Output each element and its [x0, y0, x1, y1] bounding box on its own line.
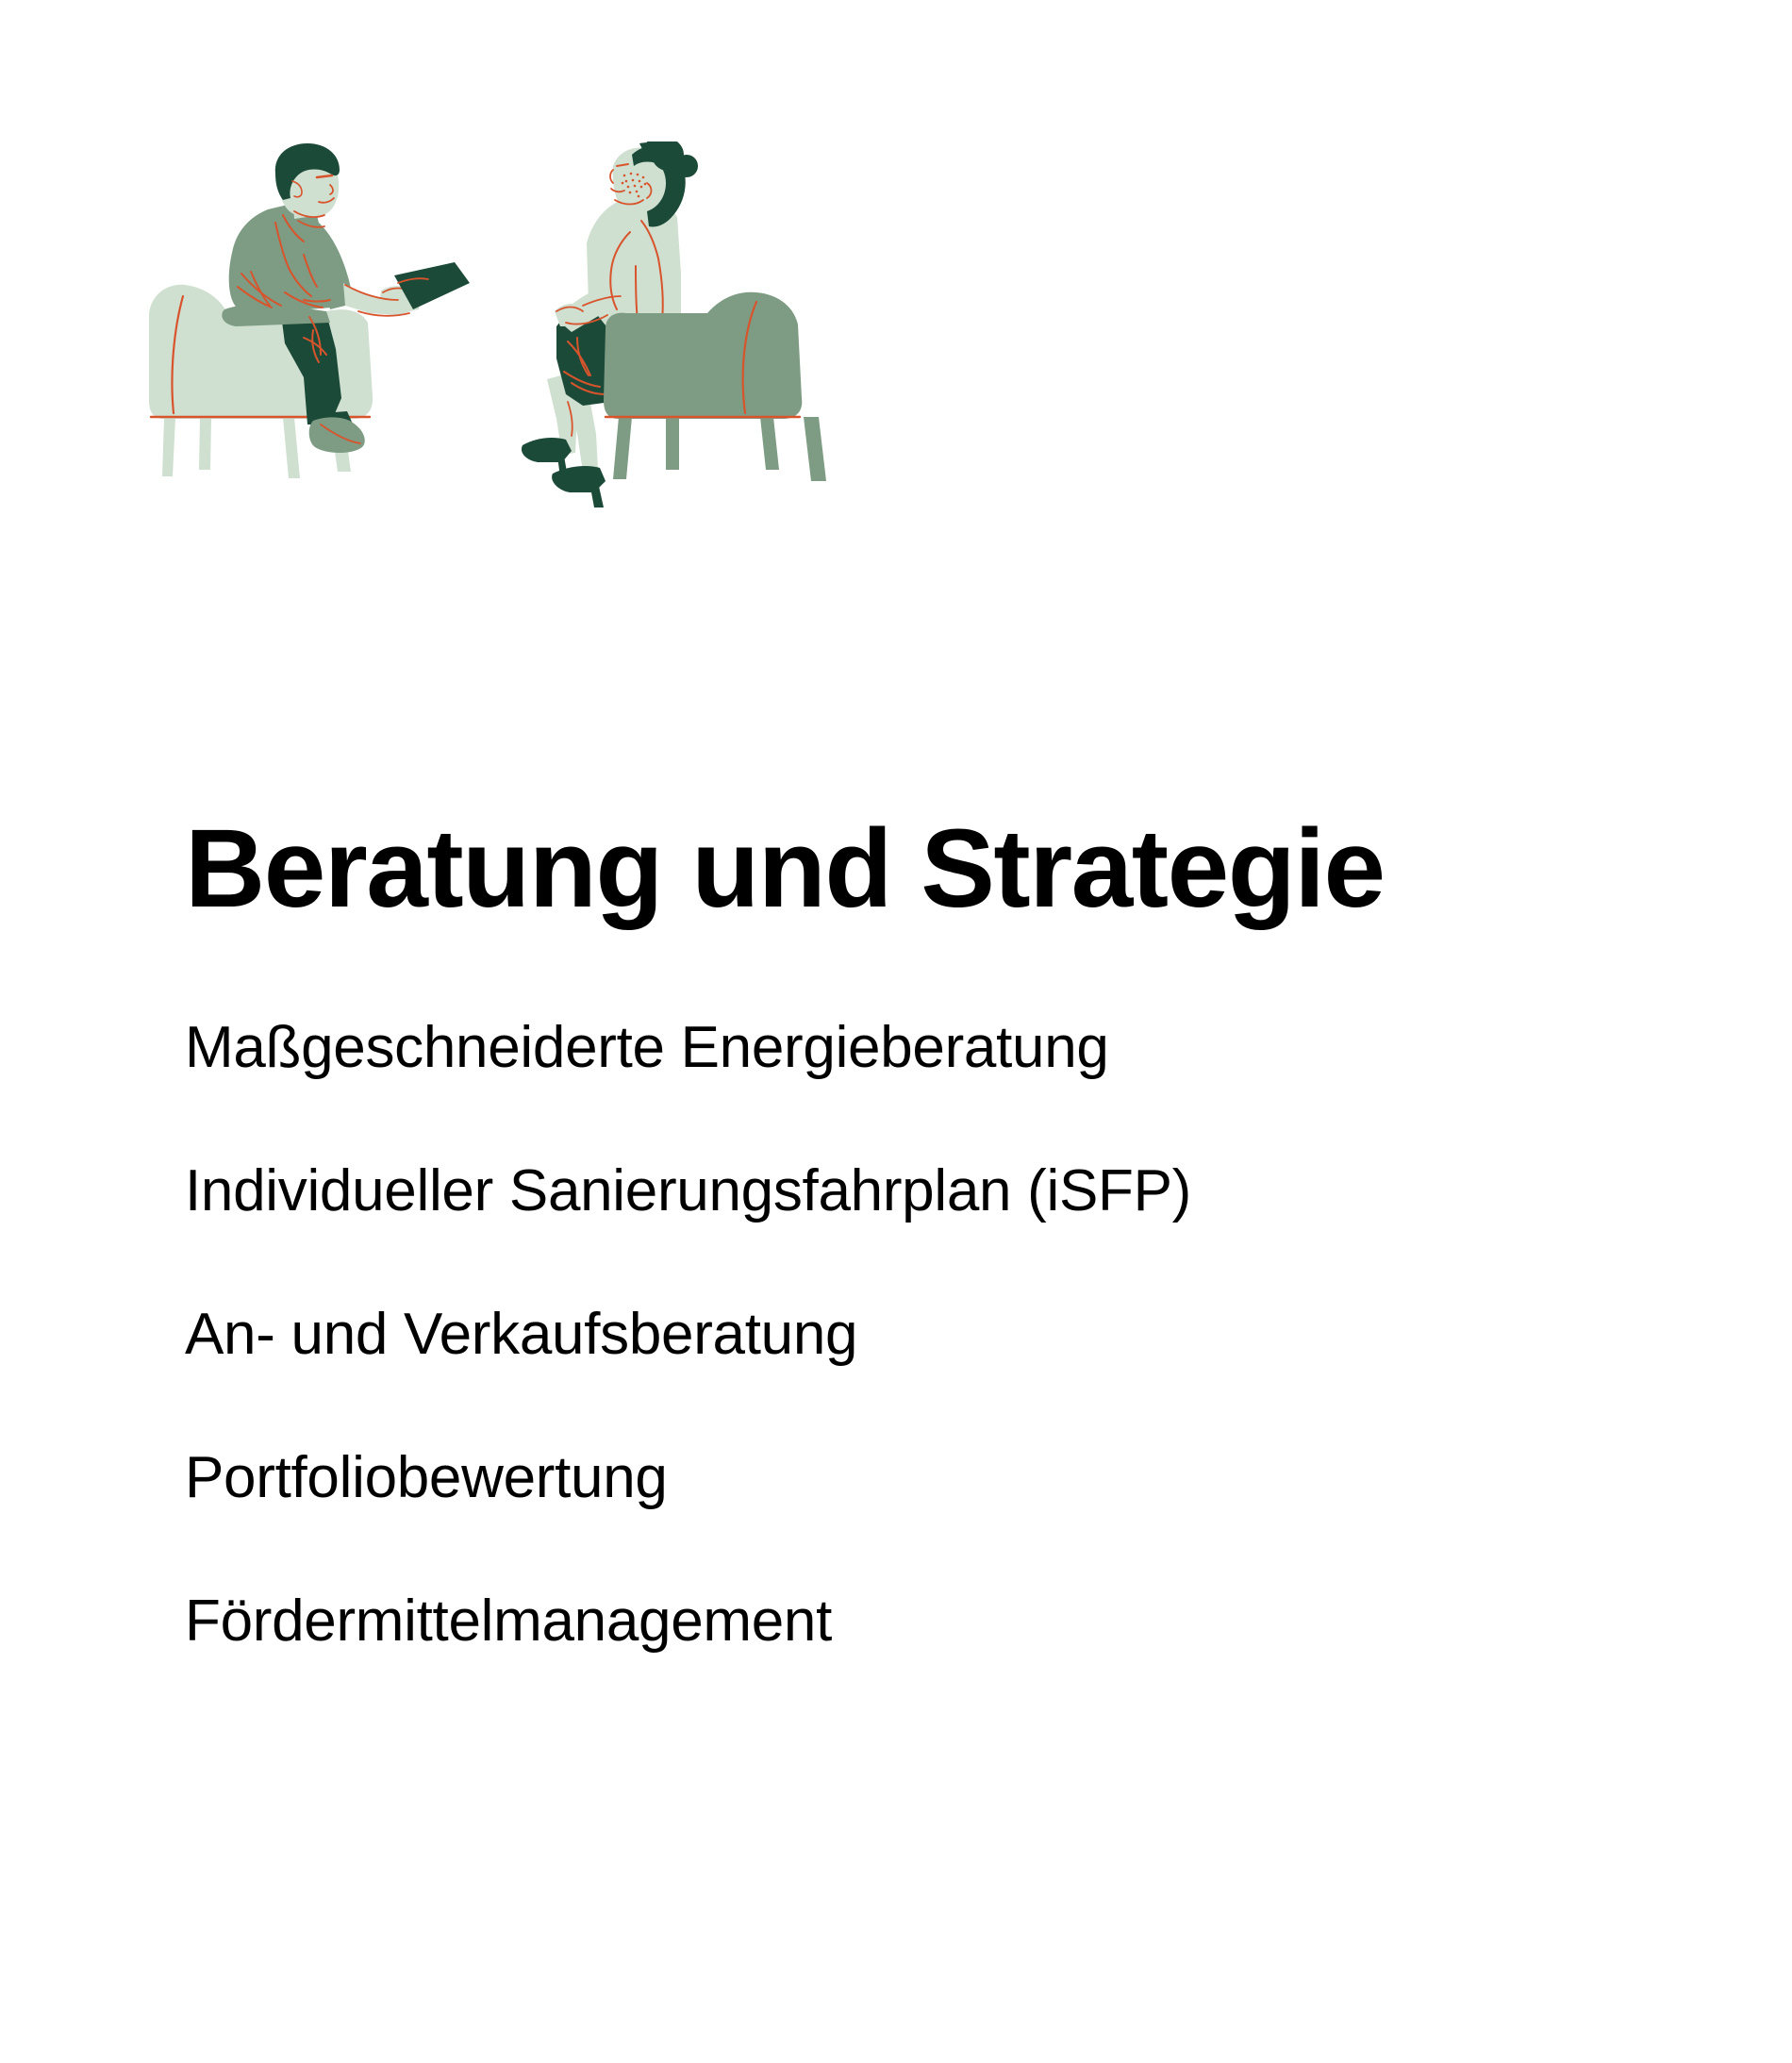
service-card: Beratung und Strategie Maßgeschneiderte …: [0, 0, 1792, 2063]
list-item: Portfoliobewertung: [185, 1449, 1656, 1507]
list-item: An- und Verkaufsberatung: [185, 1306, 1656, 1364]
list-item: Maßgeschneiderte Energieberatung: [185, 1019, 1656, 1077]
two-people-consultation-illustration: [141, 141, 858, 547]
list-item: Individueller Sanierungsfahrplan (iSFP): [185, 1162, 1656, 1221]
consultation-illustration: [141, 141, 858, 547]
list-item: Fördermittelmanagement: [185, 1592, 1656, 1651]
text-content: Beratung und Strategie Maßgeschneiderte …: [185, 813, 1656, 1651]
right-armchair: [604, 292, 826, 481]
page-title: Beratung und Strategie: [185, 813, 1656, 924]
service-list: Maßgeschneiderte Energieberatung Individ…: [185, 1019, 1656, 1651]
